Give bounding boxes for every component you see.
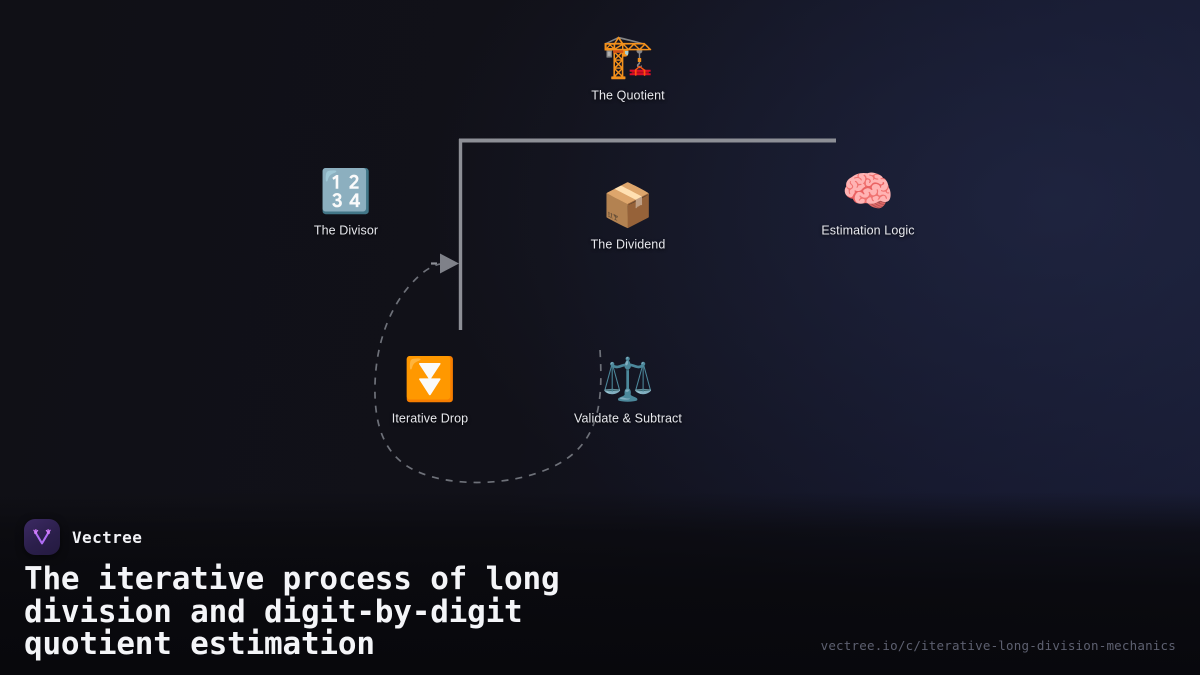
- double-down-arrow-icon: ⏬: [404, 357, 456, 403]
- page-title: The iterative process of long division a…: [24, 563, 724, 661]
- brand-row: Vectree: [24, 519, 142, 555]
- node-label: The Divisor: [314, 224, 378, 238]
- node-estimation-logic[interactable]: 🧠 Estimation Logic: [773, 169, 963, 238]
- node-label: Iterative Drop: [392, 412, 468, 426]
- brand-name: Vectree: [72, 528, 142, 547]
- node-divisor[interactable]: 🔢 The Divisor: [251, 169, 441, 238]
- node-label: Estimation Logic: [821, 224, 914, 238]
- node-iterative-drop[interactable]: ⏬ Iterative Drop: [335, 357, 525, 426]
- crane-icon: 🏗️: [602, 34, 654, 80]
- brain-icon: 🧠: [842, 169, 894, 215]
- source-url: vectree.io/c/iterative-long-division-mec…: [821, 638, 1176, 653]
- balance-scale-icon: ⚖️: [602, 357, 654, 403]
- node-label: The Dividend: [591, 238, 666, 252]
- node-label: Validate & Subtract: [574, 412, 682, 426]
- node-dividend[interactable]: 📦 The Dividend: [533, 183, 723, 252]
- node-quotient[interactable]: 🏗️ The Quotient: [533, 34, 723, 103]
- node-validate-subtract[interactable]: ⚖️ Validate & Subtract: [533, 357, 723, 426]
- edge-arrowhead-into-trunk: [440, 254, 459, 274]
- input-numbers-icon: 🔢: [320, 169, 372, 215]
- concept-map-canvas: 🏗️ The Quotient 🔢 The Divisor 📦 The Divi…: [0, 0, 1200, 675]
- node-label: The Quotient: [591, 89, 664, 103]
- footer: Vectree The iterative process of long di…: [0, 492, 1200, 675]
- package-box-icon: 📦: [602, 183, 654, 229]
- vectree-tree-logo-icon: [24, 519, 60, 555]
